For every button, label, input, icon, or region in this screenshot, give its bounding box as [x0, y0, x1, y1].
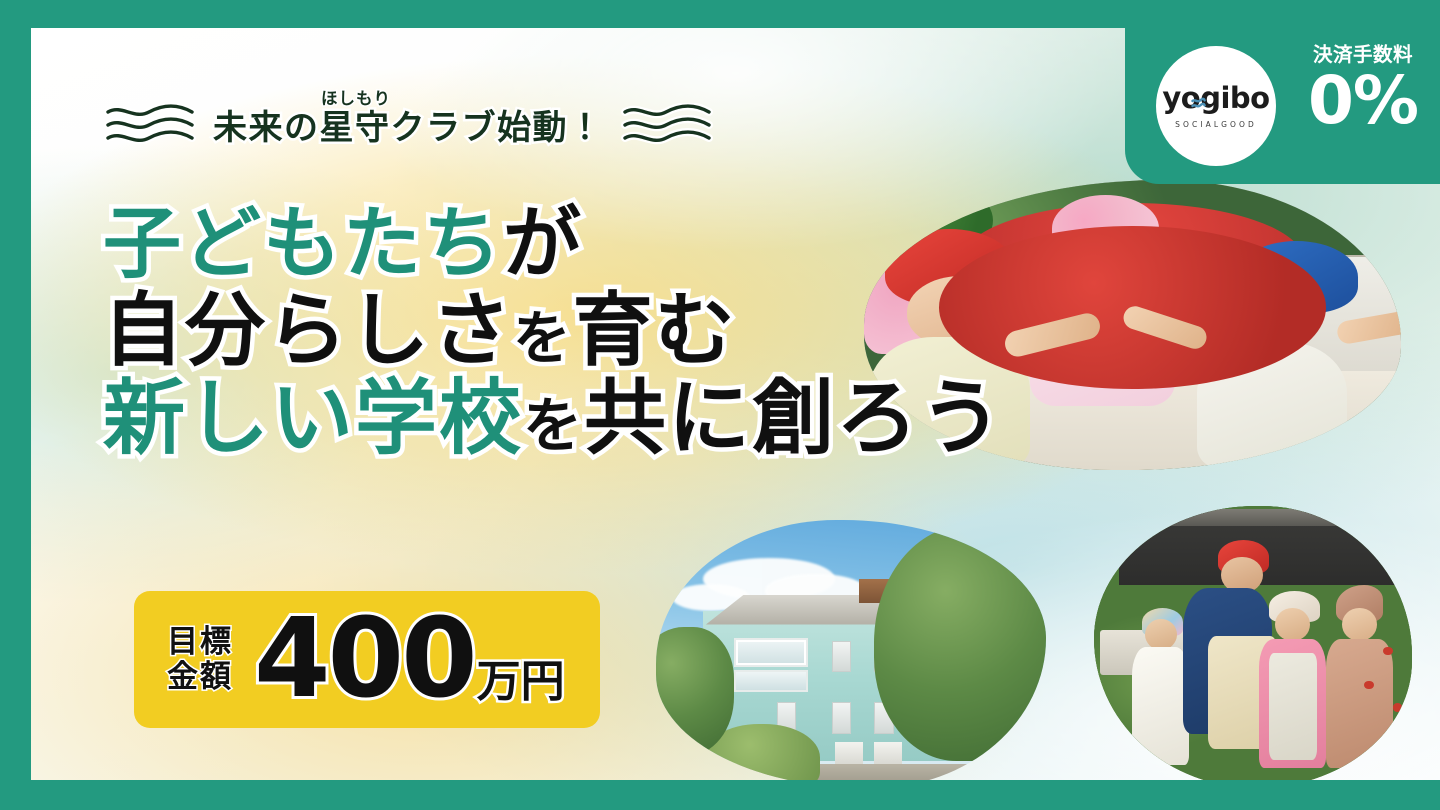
- subtitle-row: ほしもり 未来の星守クラブ始動！: [104, 103, 713, 152]
- goal-label-line-1: 目標: [167, 625, 233, 660]
- wave-lines-icon-left: [104, 103, 196, 152]
- poster-canvas: ほしもり 未来の星守クラブ始動！: [31, 28, 1440, 780]
- headline-line3-teal: 新しい学校: [103, 373, 523, 464]
- headline-line2-wo: を: [513, 307, 573, 371]
- subtitle-text-wrap: ほしもり 未来の星守クラブ始動！: [213, 111, 604, 145]
- headline-line3-ink: 共に創ろう: [584, 373, 1004, 464]
- goal-amount-unit: 万円: [477, 645, 565, 709]
- yogibo-logo: yogibo SOCIALGOOD: [1156, 46, 1276, 166]
- headline-line1-teal: 子どもたち: [103, 199, 503, 287]
- photo-school-building-exterior: [656, 520, 1046, 780]
- goal-label-line-2: 金額: [167, 660, 233, 695]
- goal-amount-number: 400: [254, 611, 475, 706]
- yogibo-logo-wordmark: yogibo: [1162, 84, 1269, 113]
- brand-panel: yogibo SOCIALGOOD 決済手数料 0%: [1125, 28, 1440, 184]
- headline-line-3: 新しい学校を共に創ろう: [103, 377, 1004, 461]
- goal-amount-badge: 目標 金額 400 万円: [134, 591, 600, 728]
- fee-value: 0%: [1293, 68, 1433, 134]
- yogibo-logo-text: yogibo: [1162, 81, 1269, 115]
- headline-line-1: 子どもたちが: [103, 204, 1004, 284]
- yogibo-logo-tagline: SOCIALGOOD: [1175, 120, 1257, 129]
- subtitle-ruby: ほしもり: [310, 85, 402, 109]
- headline-line2-a: 自分らしさ: [103, 286, 513, 375]
- headline-line1-ink: が: [503, 199, 583, 287]
- subtitle-text: 未来の星守クラブ始動！: [213, 111, 604, 145]
- fee-block: 決済手数料 0%: [1293, 45, 1433, 134]
- goal-label: 目標 金額: [167, 625, 233, 694]
- goal-amount: 400 万円: [254, 611, 565, 709]
- headline: 子どもたちが 自分らしさを育む 新しい学校を共に創ろう: [103, 204, 1004, 467]
- photo-children-garden-harvest: [1094, 506, 1412, 780]
- headline-line-2: 自分らしさを育む: [103, 290, 1004, 372]
- headline-line2-b: 育む: [573, 286, 737, 375]
- headline-line3-wo: を: [523, 393, 584, 459]
- wave-lines-icon-right: [621, 103, 713, 152]
- poster-root: ほしもり 未来の星守クラブ始動！: [0, 0, 1440, 810]
